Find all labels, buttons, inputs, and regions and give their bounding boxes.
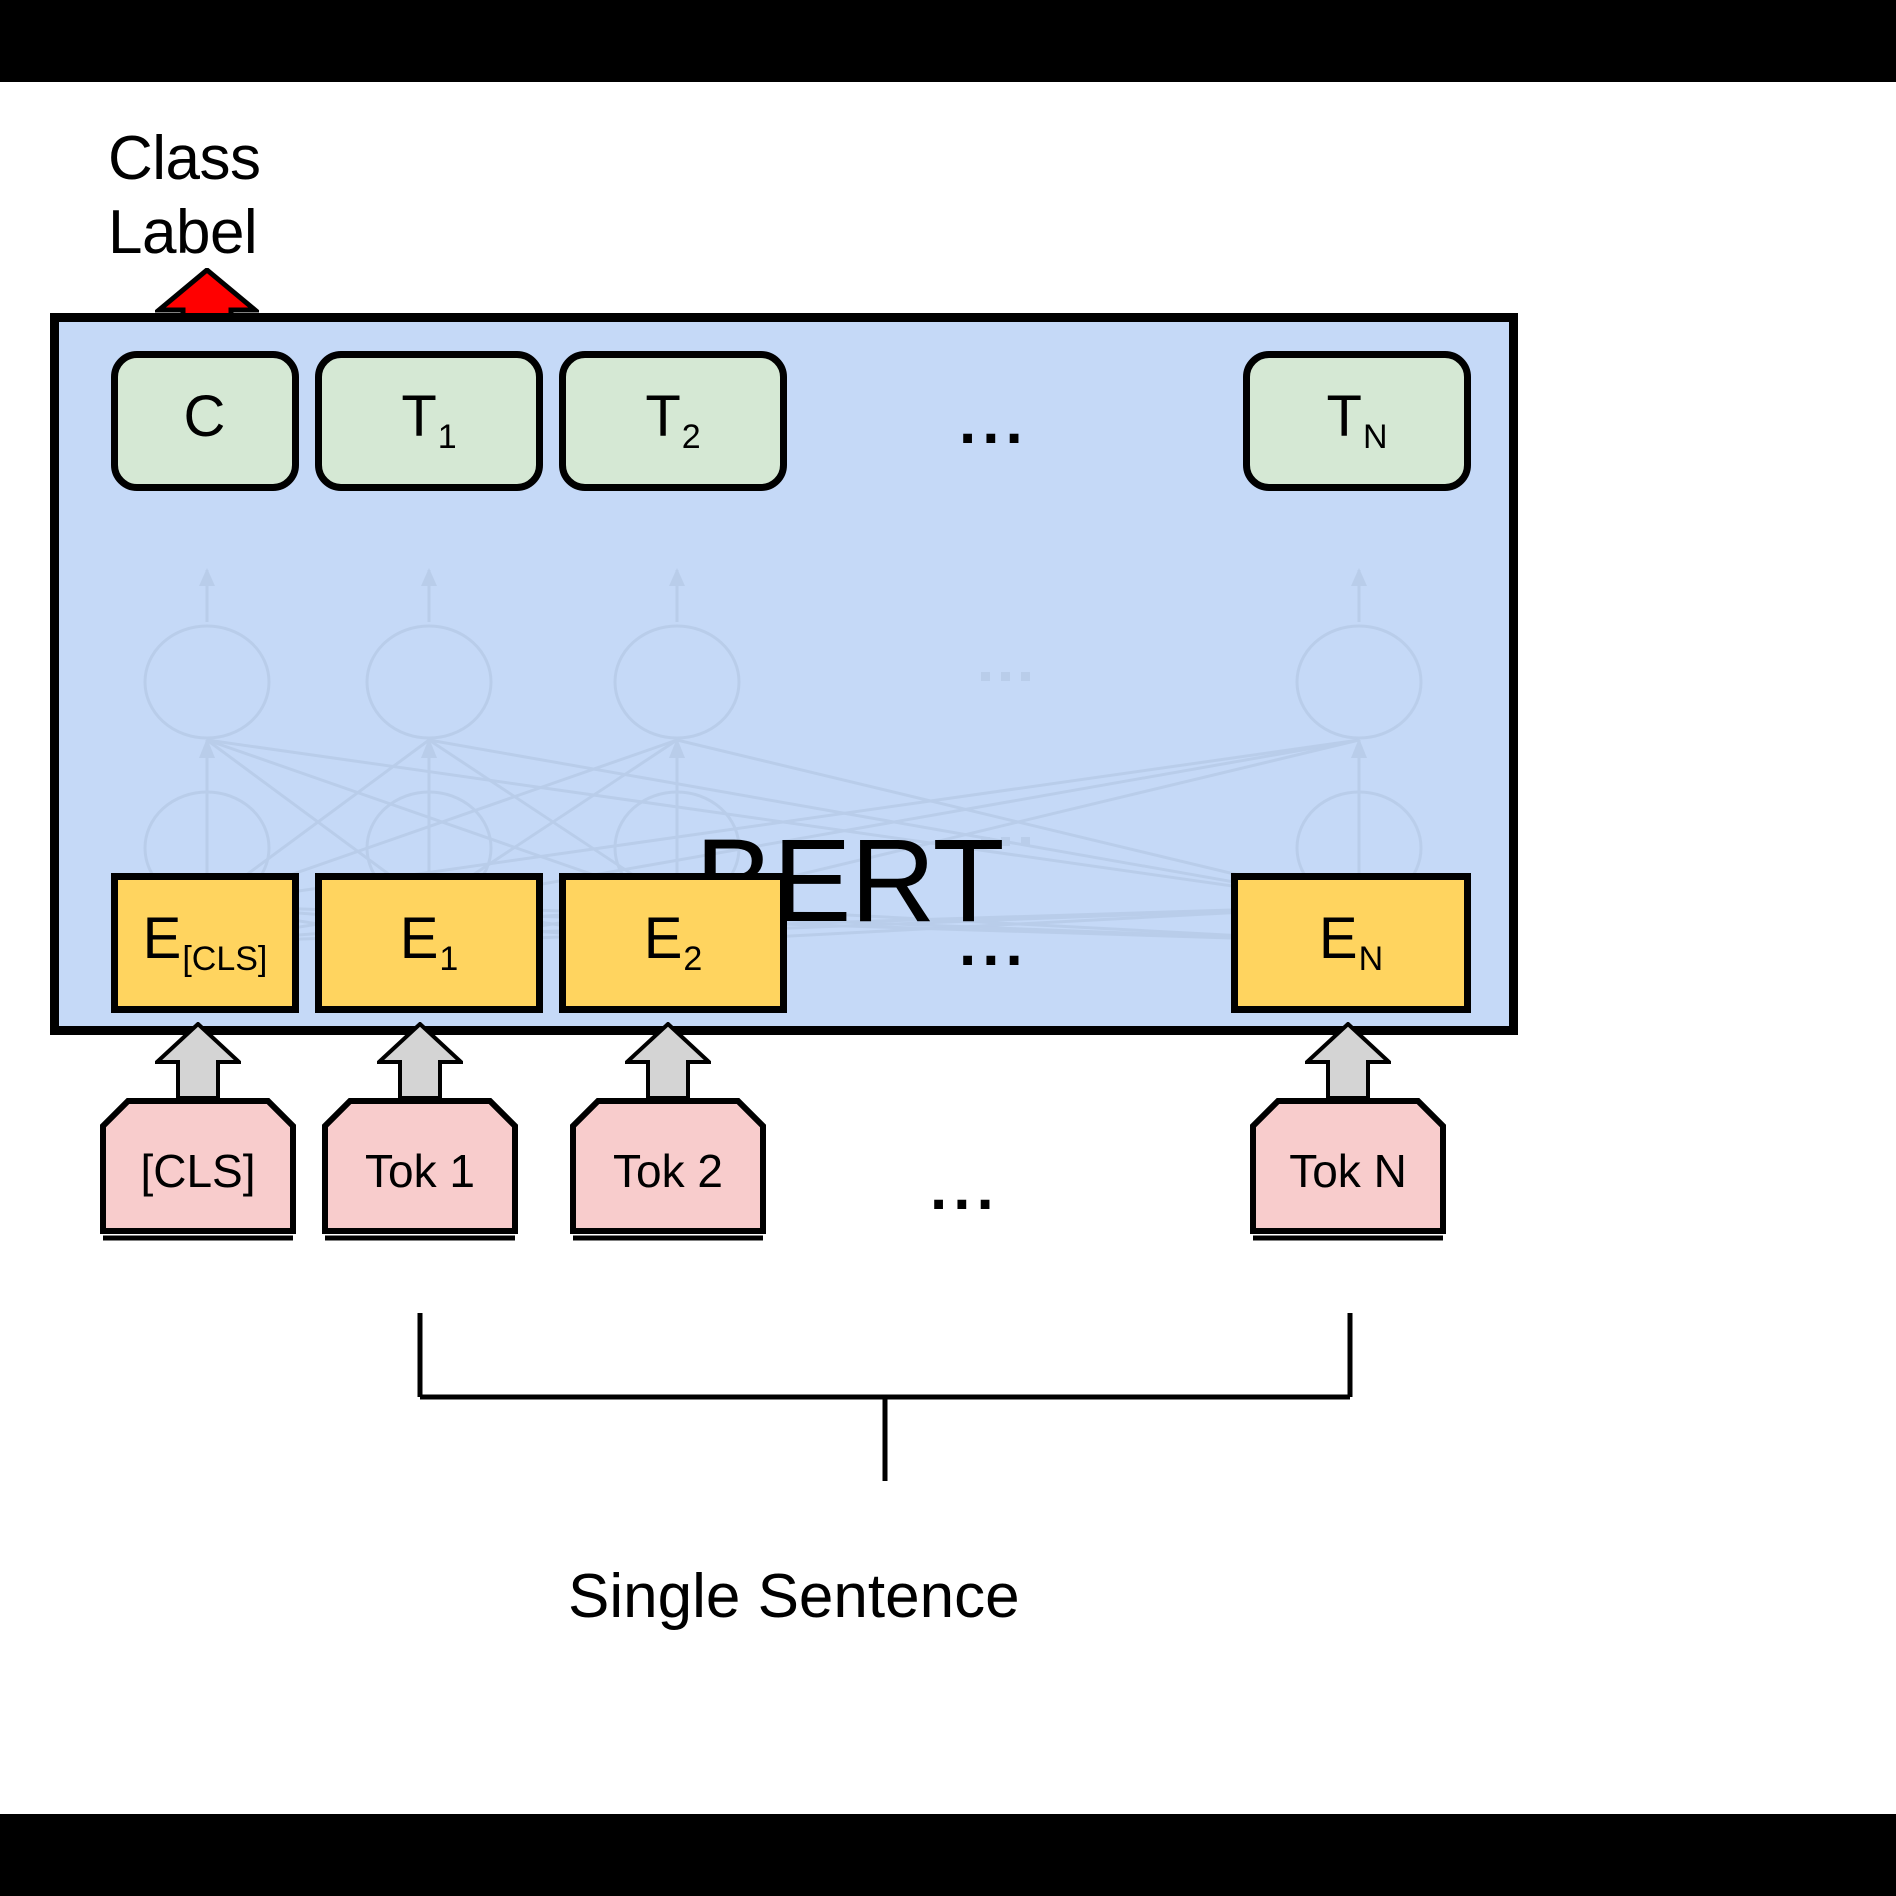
input-token-tok1[interactable]: Tok 1 [322, 1098, 518, 1244]
embedding-box-e1[interactable]: E1 [315, 873, 543, 1013]
embedding-e1-symbol: E1 [400, 910, 459, 976]
input-token-cls-label: [CLS] [100, 1098, 296, 1244]
input-arrow-tok1-icon [377, 1022, 463, 1100]
embedding-box-en[interactable]: EN [1231, 873, 1471, 1013]
output-c-symbol: C [184, 388, 227, 454]
input-arrow-tok2-icon [625, 1022, 711, 1100]
input-row-ellipsis: ... [930, 1158, 1000, 1220]
output-box-t2[interactable]: T2 [559, 351, 787, 491]
embedding-row-ellipsis: ... [959, 914, 1029, 976]
diagram-canvas: Class Label [0, 82, 1896, 1814]
sentence-bracket [380, 1313, 1400, 1558]
input-token-tok2-label: Tok 2 [570, 1098, 766, 1244]
input-token-tok1-label: Tok 1 [322, 1098, 518, 1244]
embedding-cls-symbol: E[CLS] [143, 910, 268, 976]
class-label-line-2: Label [108, 196, 261, 270]
bert-model-container: BERT C T1 T2 TN .. [50, 313, 1518, 1035]
class-label-text: Class Label [108, 122, 261, 270]
embedding-box-cls[interactable]: E[CLS] [111, 873, 299, 1013]
input-arrow-cls-icon [155, 1022, 241, 1100]
output-box-c[interactable]: C [111, 351, 299, 491]
output-row-ellipsis: ... [959, 392, 1029, 454]
input-token-tokn-label: Tok N [1250, 1098, 1446, 1244]
class-label-line-1: Class [108, 122, 261, 196]
output-t1-symbol: T1 [401, 388, 456, 454]
output-box-t1[interactable]: T1 [315, 351, 543, 491]
screenshot-root: Class Label [0, 0, 1896, 1896]
output-tn-symbol: TN [1327, 388, 1388, 454]
embedding-e2-symbol: E2 [644, 910, 703, 976]
output-t2-symbol: T2 [645, 388, 700, 454]
embedding-en-symbol: EN [1319, 910, 1383, 976]
input-token-tok2[interactable]: Tok 2 [570, 1098, 766, 1244]
output-box-tn[interactable]: TN [1243, 351, 1471, 491]
input-arrow-tokn-icon [1305, 1022, 1391, 1100]
input-token-tokn[interactable]: Tok N [1250, 1098, 1446, 1244]
input-caption: Single Sentence [568, 1561, 1020, 1632]
embedding-box-e2[interactable]: E2 [559, 873, 787, 1013]
input-token-cls[interactable]: [CLS] [100, 1098, 296, 1244]
